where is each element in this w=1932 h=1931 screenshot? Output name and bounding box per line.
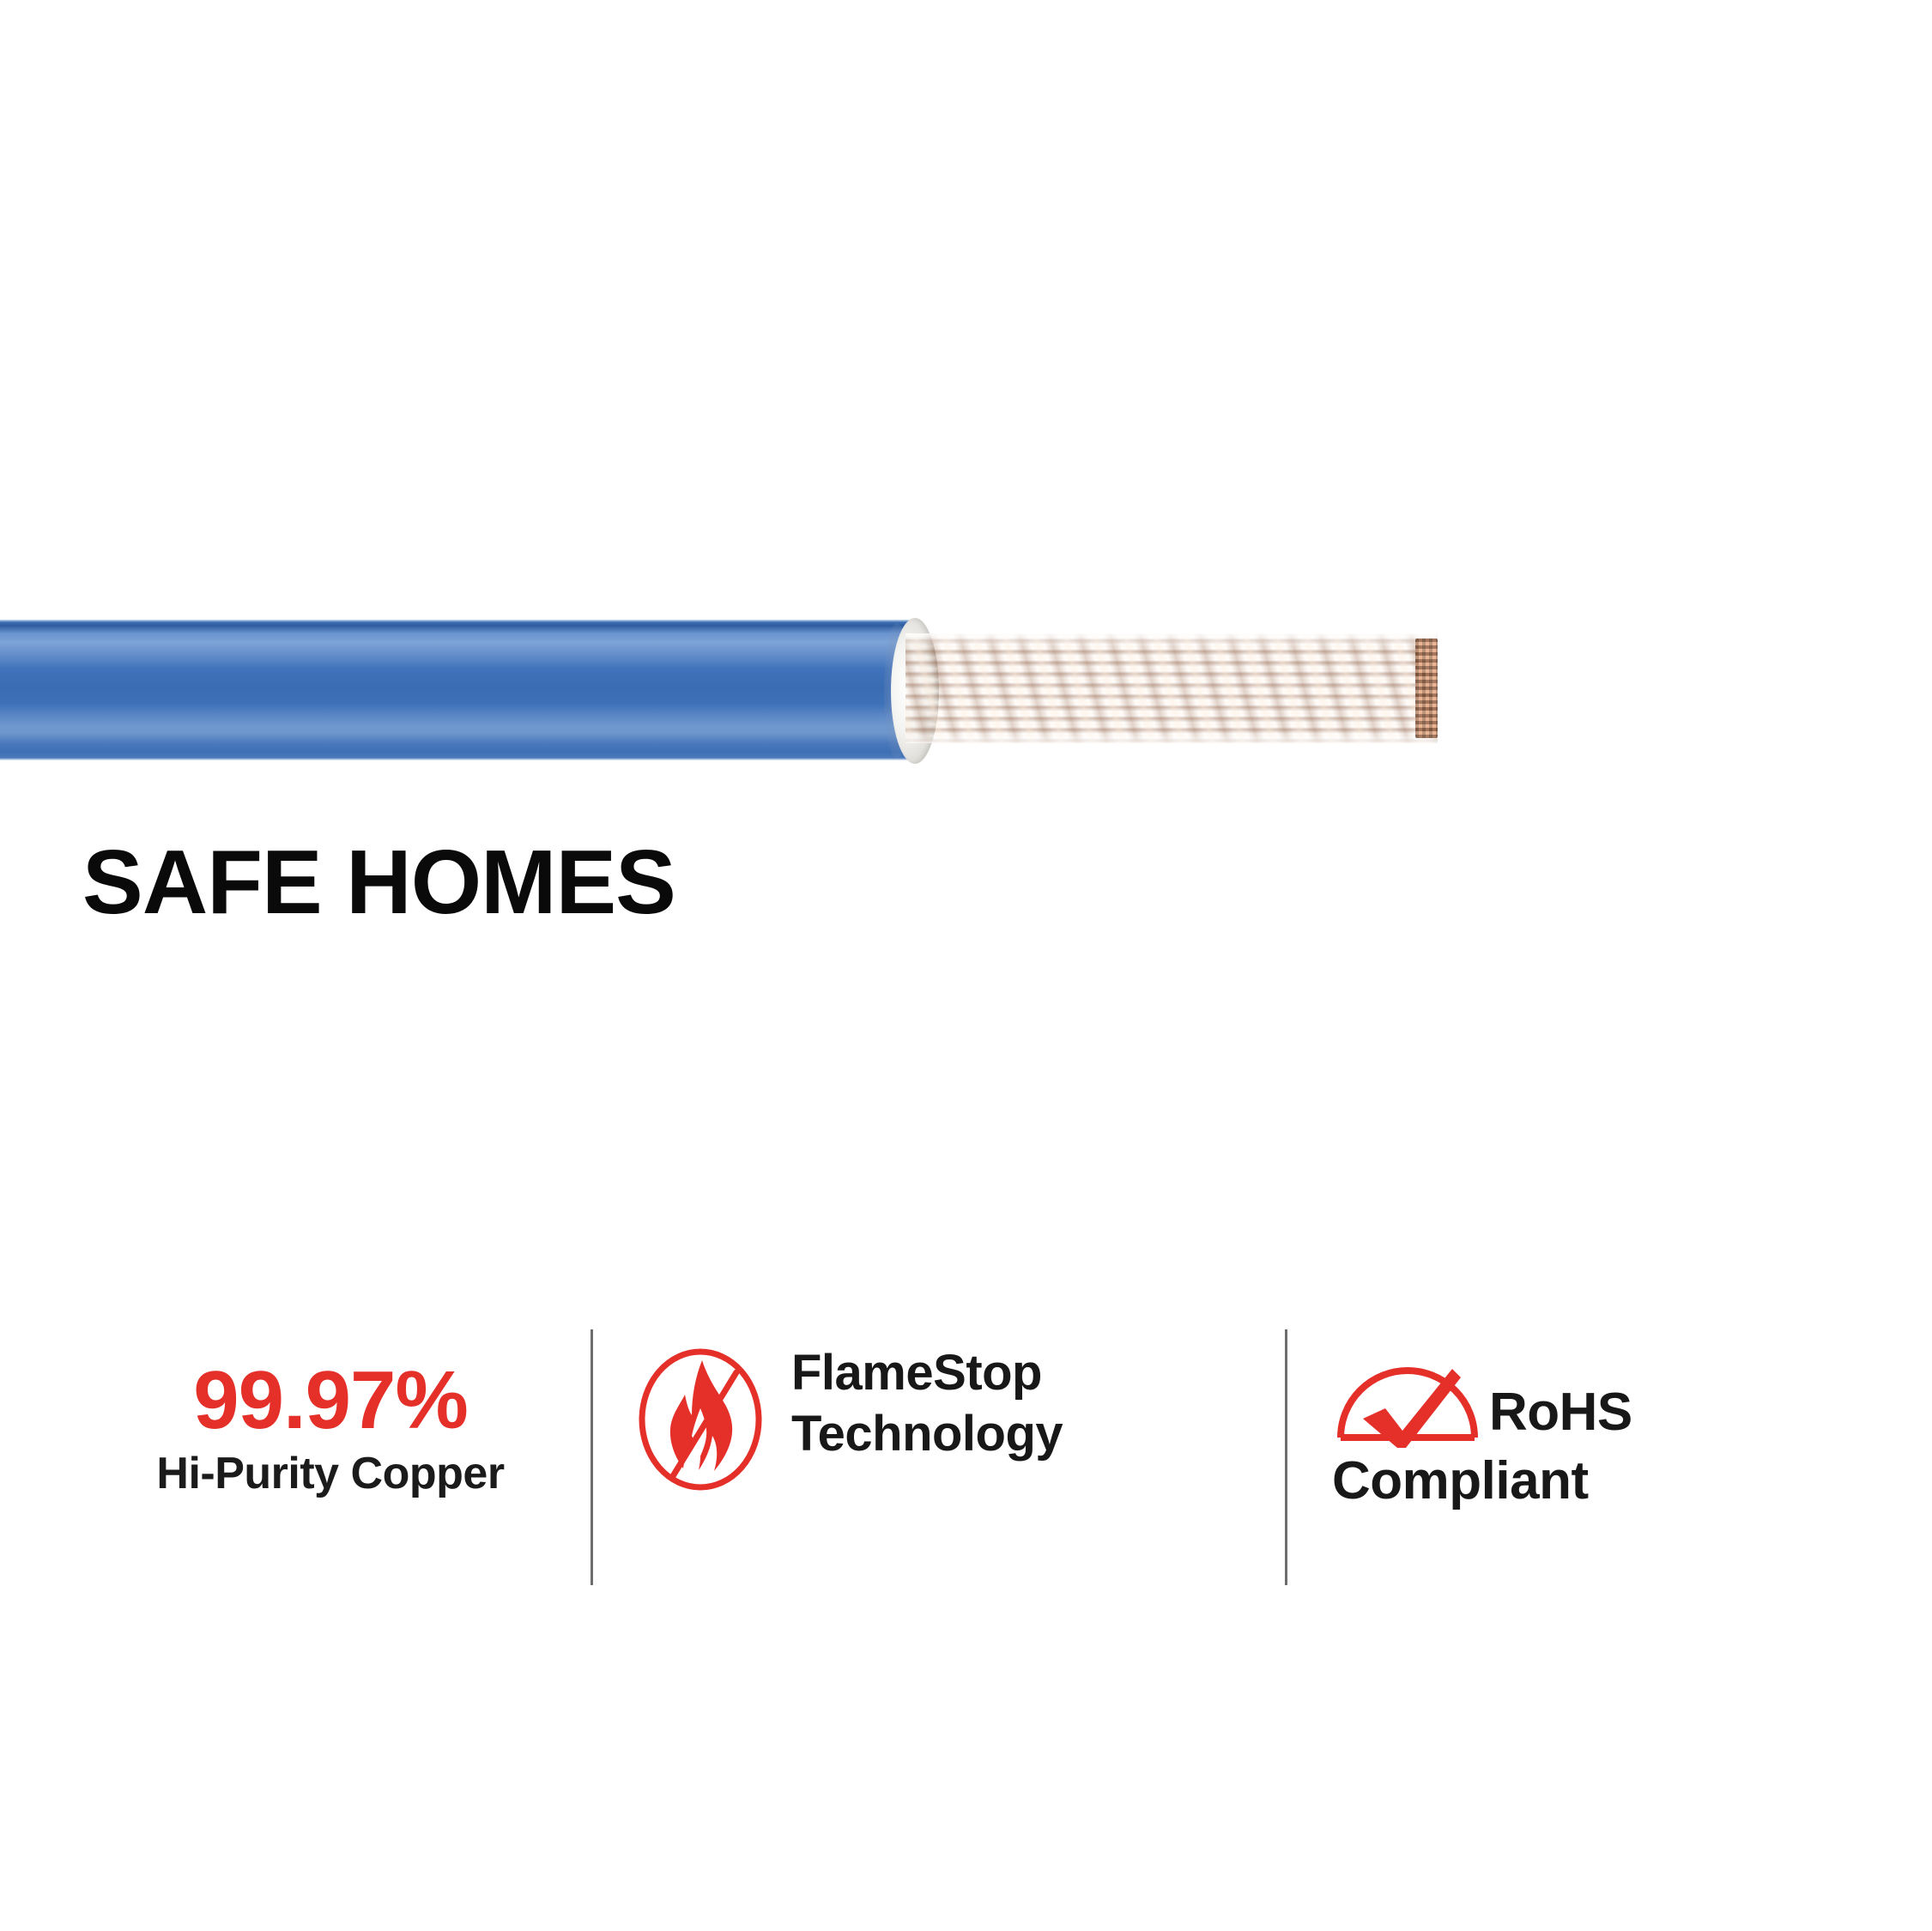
flamestop-line-1: FlameStop (791, 1343, 1063, 1404)
feature-divider-1 (591, 1329, 593, 1585)
flamestop-label: FlameStop Technology (791, 1343, 1063, 1465)
cable-insulation (0, 620, 914, 760)
rohs-compliant-label: Compliant (1332, 1453, 1589, 1509)
feature-purity: 99.97% Hi-Purity Copper (86, 1326, 575, 1588)
purity-value: 99.97% (193, 1359, 468, 1443)
page-title: SAFE HOMES (82, 837, 675, 928)
feature-rohs: RoHS Compliant (1332, 1326, 1796, 1588)
copper-highlight-top (905, 633, 1438, 647)
copper-cut-end (1415, 639, 1438, 738)
feature-flamestop: FlameStop Technology (635, 1326, 1253, 1588)
product-poster: SAFE HOMES 99.97% Hi-Purity Copper Flame… (0, 0, 1932, 1931)
purity-label: Hi-Purity Copper (156, 1450, 504, 1498)
flamestop-line-2: Technology (791, 1404, 1063, 1465)
feature-divider-2 (1285, 1329, 1287, 1585)
feature-badge-row: 99.97% Hi-Purity Copper FlameStop Techno… (86, 1326, 1802, 1588)
rohs-header-row: RoHS (1332, 1352, 1632, 1448)
rohs-label: RoHS (1489, 1386, 1632, 1439)
rohs-check-arc-icon (1332, 1352, 1482, 1448)
copper-conductor-bundle (905, 633, 1438, 743)
cable-product-image (0, 601, 1476, 790)
copper-strand-twist (905, 633, 1438, 743)
copper-highlight-bottom (905, 731, 1438, 743)
no-flame-icon (635, 1347, 766, 1492)
